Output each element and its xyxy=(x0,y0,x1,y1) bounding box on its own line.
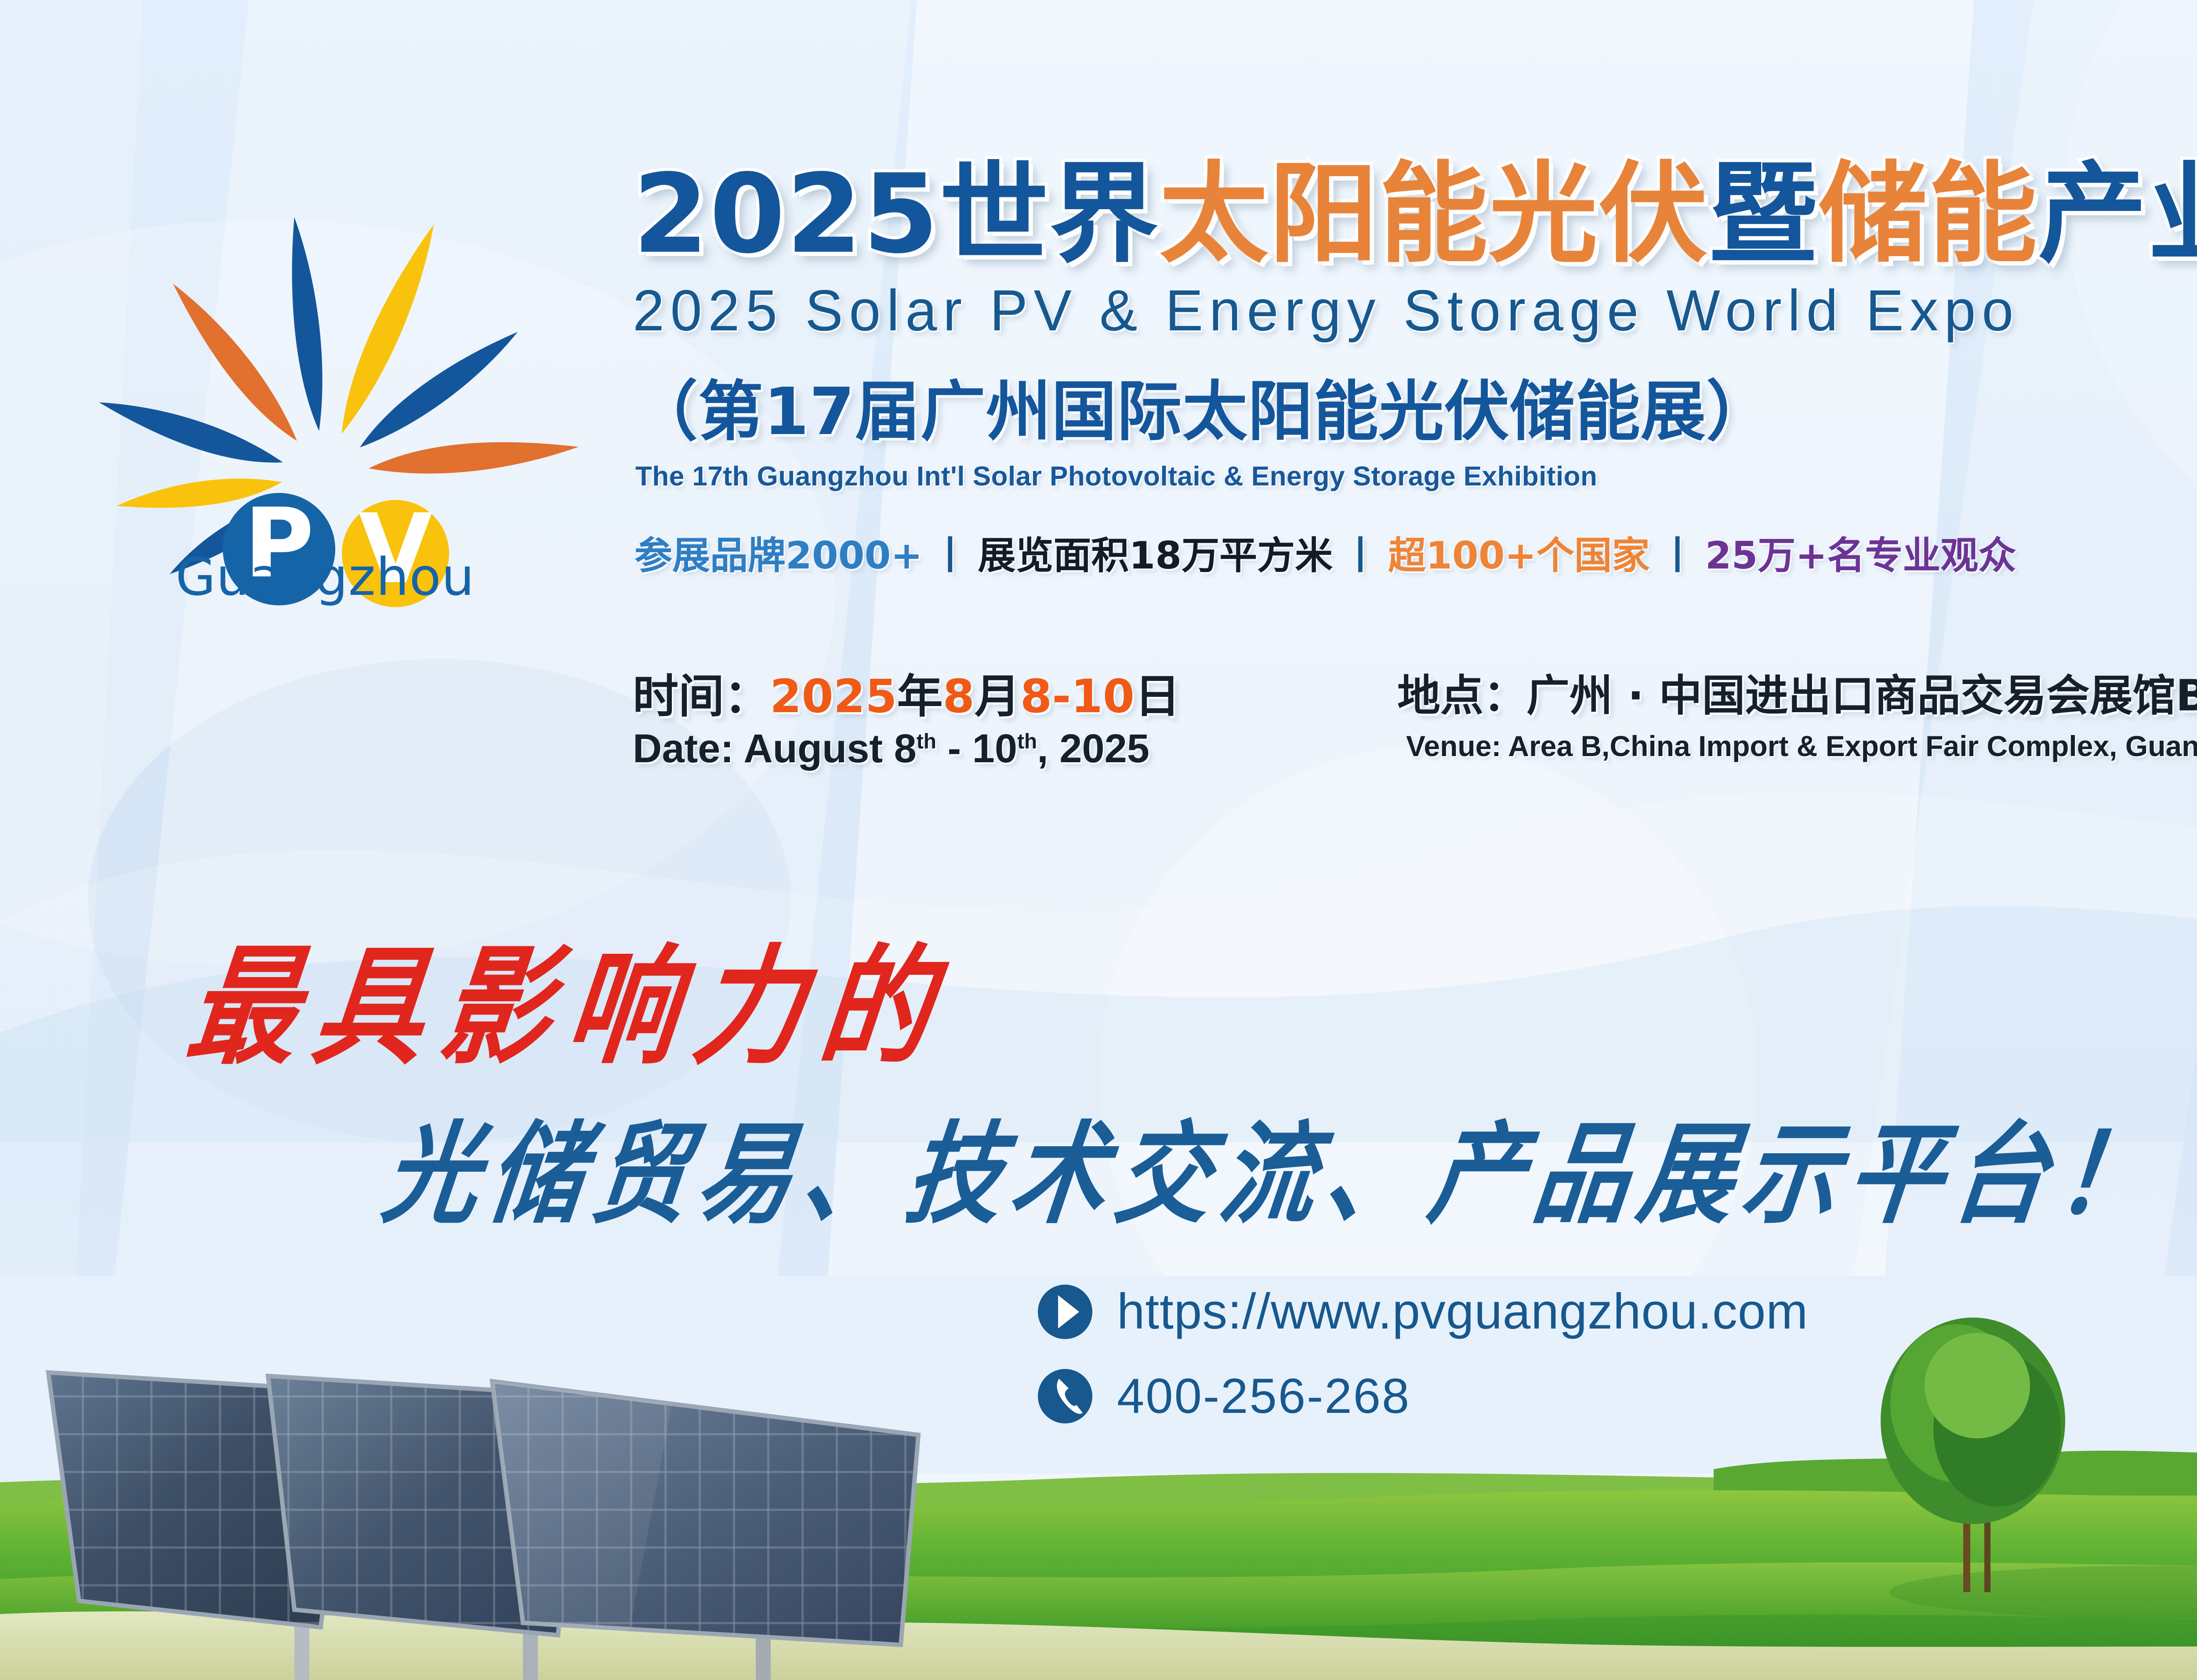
date-label: 时间： xyxy=(633,670,770,723)
stat-separator: 丨 xyxy=(922,534,978,578)
main-title-cn: 2025世界太阳能光伏暨储能产业博览会 xyxy=(633,155,2197,275)
venue-line-en: Venue: Area B,China Import & Export Fair… xyxy=(1406,729,2197,763)
phone-row[interactable]: 400-256-268 xyxy=(1037,1368,1808,1424)
solar-panel-array xyxy=(13,1320,1033,1680)
pv-guangzhou-logo: P V Guangzhou xyxy=(66,167,584,615)
subtitle-cn: （第17届广州国际太阳能光伏储能展） xyxy=(633,358,2197,453)
date-month-unit: 月 xyxy=(975,670,1020,723)
date-days: 8-10 xyxy=(1020,670,1135,723)
venue-line-cn: 地点：广州 · 中国进出口商品交易会展馆B区 xyxy=(1397,661,2197,723)
calligraphy-line-1: 最具影响力的 xyxy=(179,903,961,1089)
phone-icon xyxy=(1037,1368,1093,1424)
stat-separator: 丨 xyxy=(1333,534,1388,578)
date-day-unit: 日 xyxy=(1135,670,1180,723)
date-en-sup-2: th xyxy=(1017,730,1037,753)
date-year: 2025 xyxy=(770,670,897,723)
date-year-unit: 年 xyxy=(897,670,943,723)
date-line-en: Date: August 8th - 10th, 2025 xyxy=(633,726,1149,772)
date-line-cn: 时间：2025年8月8-10日 xyxy=(633,659,1180,725)
logo-wordmark: Guangzhou xyxy=(66,547,584,607)
date-en-prefix: Date: August 8 xyxy=(633,726,917,771)
main-title-en: 2025 Solar PV & Energy Storage World Exp… xyxy=(633,277,2197,344)
website-url[interactable]: https://www.pvguangzhou.com xyxy=(1117,1283,1808,1340)
expo-banner: P V Guangzhou 2025世界太阳能光伏暨储能产业博览会 2025 S… xyxy=(0,0,2197,1680)
phone-number[interactable]: 400-256-268 xyxy=(1117,1368,1410,1424)
title-segment: 暨 xyxy=(1708,151,1818,278)
stats-strip: 参展品牌2000+丨展览面积18万平方米丨超100+个国家丨25万+名专业观众 xyxy=(634,525,2197,579)
stat-visitors: 25万+名专业观众 xyxy=(1705,534,2016,578)
date-venue-block: 时间：2025年8月8-10日 Date: August 8th - 10th,… xyxy=(633,659,2197,800)
stat-exhibitor-brands: 参展品牌2000+ xyxy=(634,534,922,578)
calligraphy-line-2: 光储贸易、技术交流、产品展示平台！ xyxy=(376,1085,2173,1245)
date-en-suffix: , 2025 xyxy=(1037,726,1149,771)
subtitle-en: The 17th Guangzhou Int'l Solar Photovolt… xyxy=(635,461,2197,492)
stat-countries: 超100+个国家 xyxy=(1388,534,1650,578)
title-segment: 2025世界 xyxy=(633,151,1159,278)
title-segment: 太阳能光伏 xyxy=(1159,151,1708,278)
date-en-mid: - 10 xyxy=(936,726,1017,771)
contact-block: https://www.pvguangzhou.com 400-256-268 xyxy=(1037,1283,1808,1452)
title-segment: 产业博览会 xyxy=(2038,151,2197,278)
play-arrow-icon xyxy=(1037,1284,1093,1340)
stat-exhibition-area: 展览面积18万平方米 xyxy=(978,534,1333,578)
date-en-sup-1: th xyxy=(917,730,936,753)
date-month: 8 xyxy=(943,670,974,723)
title-segment: 储能 xyxy=(1818,151,2038,278)
stat-separator: 丨 xyxy=(1650,534,1705,578)
website-row[interactable]: https://www.pvguangzhou.com xyxy=(1037,1283,1808,1340)
headline-block: 2025世界太阳能光伏暨储能产业博览会 2025 Solar PV & Ener… xyxy=(633,155,2197,579)
